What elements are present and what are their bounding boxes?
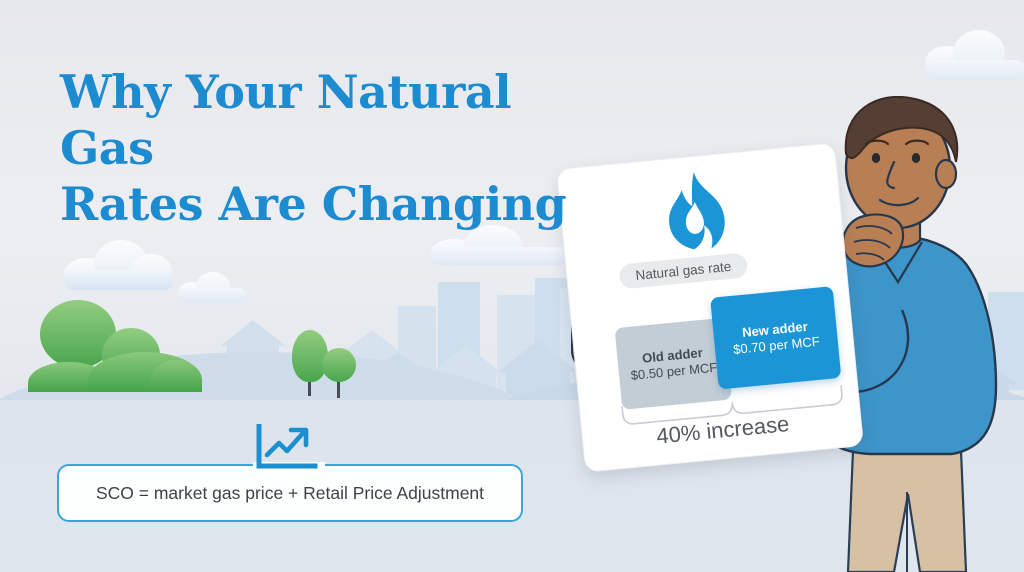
headline-line-2: Rates Are Changing xyxy=(60,176,580,232)
eye-shape xyxy=(872,153,880,163)
infographic-canvas: Natural gas rate Old adder $0.50 per MCF… xyxy=(0,0,1024,572)
formula-text: SCO = market gas price + Retail Price Ad… xyxy=(96,483,484,504)
tree-canopy xyxy=(292,330,328,382)
trending-up-chart-icon xyxy=(253,424,325,472)
cloud-icon xyxy=(925,28,1024,74)
natural-gas-rate-pill: Natural gas rate xyxy=(618,252,748,289)
page-title: Why Your Natural Gas Rates Are Changing xyxy=(60,64,580,232)
cloud-icon xyxy=(64,240,174,286)
headline-line-1: Why Your Natural Gas xyxy=(60,64,580,176)
eye-shape xyxy=(912,153,920,163)
natural-gas-rate-card: Natural gas rate Old adder $0.50 per MCF… xyxy=(556,142,864,472)
ear-shape xyxy=(936,160,956,188)
tree-canopy xyxy=(322,348,356,382)
new-adder-box: New adder $0.70 per MCF xyxy=(710,286,841,389)
cloud-icon xyxy=(178,272,246,302)
gas-flame-icon xyxy=(654,167,738,258)
formula-box: SCO = market gas price + Retail Price Ad… xyxy=(57,464,523,522)
